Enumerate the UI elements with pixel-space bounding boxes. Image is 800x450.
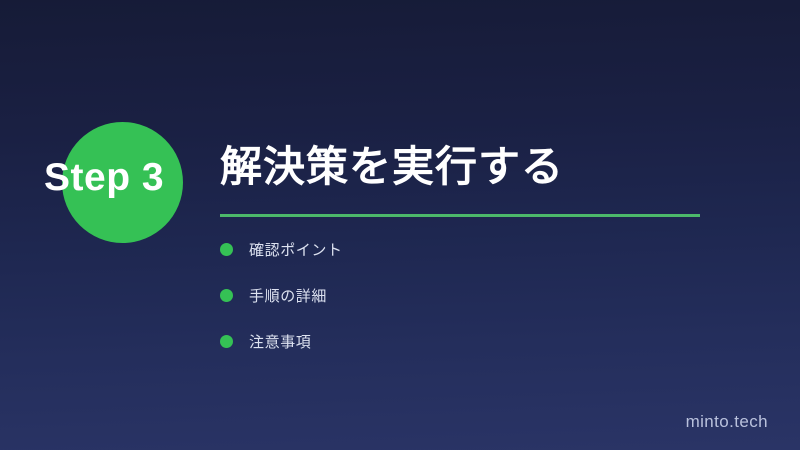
list-item: 注意事項 [220, 333, 343, 349]
title-block: 解決策を実行する [220, 140, 760, 217]
bullet-label: 注意事項 [249, 331, 311, 352]
bullet-dot-icon [220, 243, 233, 256]
list-item: 手順の詳細 [220, 287, 343, 303]
bullet-label: 確認ポイント [249, 239, 343, 260]
footer-brand: minto.tech [686, 412, 768, 432]
bullet-dot-icon [220, 289, 233, 302]
step-badge-label: Step 3 [44, 153, 204, 203]
bullet-label: 手順の詳細 [249, 285, 327, 306]
slide-title: 解決策を実行する [220, 140, 760, 194]
list-item: 確認ポイント [220, 241, 343, 257]
title-divider-rule [220, 214, 700, 217]
presentation-slide: Step 3 解決策を実行する 確認ポイント 手順の詳細 注意事項 minto.… [0, 0, 800, 450]
bullet-list: 確認ポイント 手順の詳細 注意事項 [220, 241, 343, 349]
bullet-dot-icon [220, 335, 233, 348]
